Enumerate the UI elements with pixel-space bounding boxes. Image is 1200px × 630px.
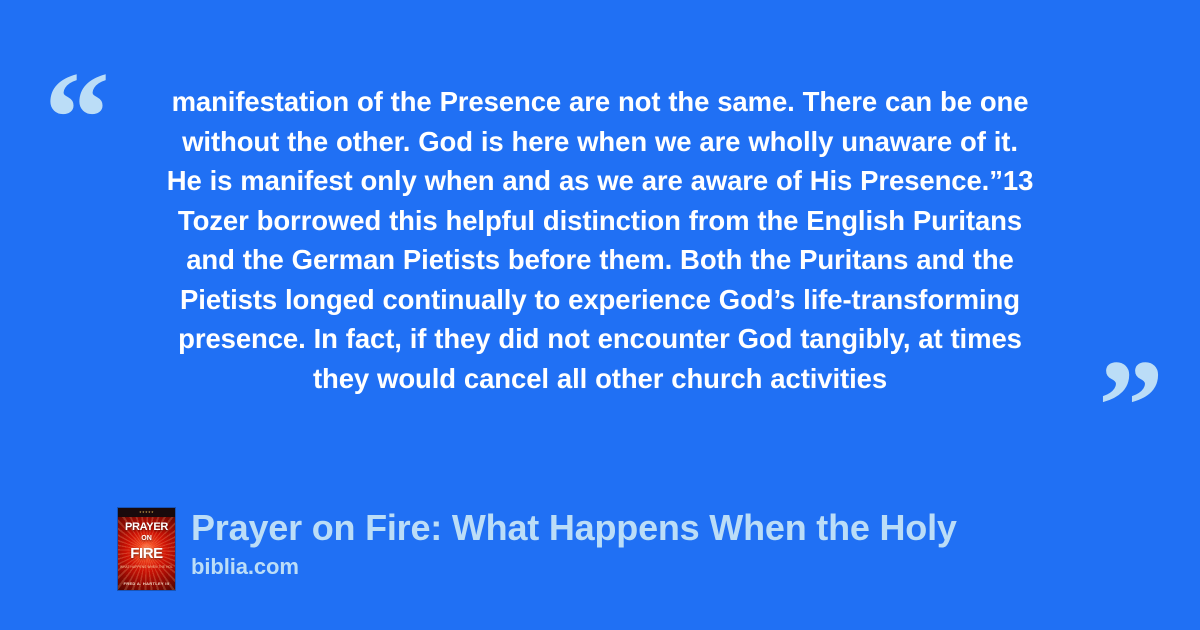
quote-line: He is manifest only when and as we are a… bbox=[108, 161, 1092, 201]
cover-subtitle: WHAT HAPPENS WHEN THE HOLY SPIRIT SHOWS … bbox=[120, 565, 173, 569]
quote-line: Pietists longed continually to experienc… bbox=[108, 280, 1092, 320]
quote-line: they would cancel all other church activ… bbox=[108, 359, 1092, 399]
quote-close-icon: ” bbox=[1098, 340, 1162, 472]
cover-title-line-2: ON bbox=[118, 535, 175, 542]
quote-line: and the German Pietists before them. Bot… bbox=[108, 240, 1092, 280]
source-domain: biblia.com bbox=[191, 554, 957, 580]
quote-text: manifestation of the Presence are not th… bbox=[108, 82, 1092, 398]
book-cover-thumbnail: ★★★★★ PRAYER ON FIRE WHAT HAPPENS WHEN T… bbox=[118, 508, 175, 590]
cover-title-line-3: FIRE bbox=[118, 545, 175, 562]
quote-line: Tozer borrowed this helpful distinction … bbox=[108, 201, 1092, 241]
attribution-footer: ★★★★★ PRAYER ON FIRE WHAT HAPPENS WHEN T… bbox=[118, 505, 1178, 595]
quote-block: “ manifestation of the Presence are not … bbox=[0, 46, 1200, 416]
quote-line: manifestation of the Presence are not th… bbox=[108, 82, 1092, 122]
quote-line: presence. In fact, if they did not encou… bbox=[108, 319, 1092, 359]
cover-title-line-1: PRAYER bbox=[118, 521, 175, 533]
quote-line: without the other. God is here when we a… bbox=[108, 122, 1092, 162]
cover-author: FRED A. HARTLEY III bbox=[118, 581, 175, 586]
book-title: Prayer on Fire: What Happens When the Ho… bbox=[191, 505, 957, 551]
attribution-text-group: Prayer on Fire: What Happens When the Ho… bbox=[191, 505, 957, 580]
cover-top-band-text: ★★★★★ bbox=[118, 510, 175, 514]
quote-card: “ manifestation of the Presence are not … bbox=[0, 0, 1200, 630]
quote-open-icon: “ bbox=[44, 52, 108, 184]
